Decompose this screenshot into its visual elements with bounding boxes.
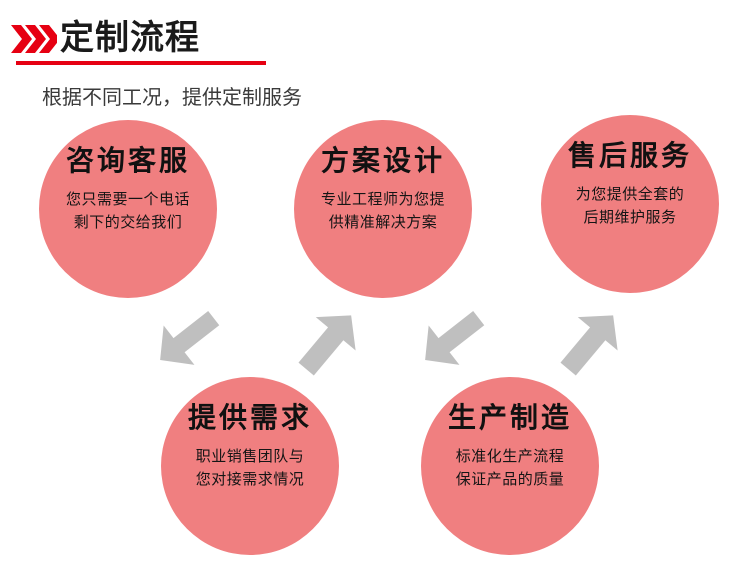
flow-stage-title: 咨询客服 <box>66 144 190 178</box>
page-subtitle: 根据不同工况，提供定制服务 <box>42 85 302 111</box>
flow-stage-consult: 咨询客服 您只需要一个电话 剩下的交给我们 <box>39 120 217 298</box>
arrow-down-right-icon-consult-to-requirement <box>150 303 230 383</box>
flow-stage-after-sales: 售后服务 为您提供全套的 后期维护服务 <box>541 115 719 293</box>
flow-stage-requirement: 提供需求 职业销售团队与 您对接需求情况 <box>161 377 339 555</box>
double-chevron-right-icon <box>11 24 57 54</box>
arrow-up-right-icon-requirement-to-design <box>288 303 368 383</box>
flow-stage-title: 方案设计 <box>321 144 445 178</box>
flow-stage-description: 标准化生产流程 保证产品的质量 <box>446 445 575 491</box>
flow-stage-description: 职业销售团队与 您对接需求情况 <box>186 445 315 491</box>
page-header: 定制流程 根据不同工况，提供定制服务 <box>0 0 750 72</box>
page-title: 定制流程 <box>60 16 200 60</box>
flow-stage-description: 为您提供全套的 后期维护服务 <box>566 183 695 229</box>
flow-stage-title: 售后服务 <box>568 139 692 173</box>
flow-stage-description: 专业工程师为您提 供精准解决方案 <box>311 188 455 234</box>
flow-stage-description: 您只需要一个电话 剩下的交给我们 <box>56 188 200 234</box>
arrow-up-right-icon-manufacture-to-after-sales <box>550 303 630 383</box>
flow-stage-title: 提供需求 <box>188 401 312 435</box>
flow-stage-title: 生产制造 <box>448 401 572 435</box>
flow-stage-design: 方案设计 专业工程师为您提 供精准解决方案 <box>294 120 472 298</box>
title-underline <box>16 61 266 65</box>
flow-stage-manufacture: 生产制造 标准化生产流程 保证产品的质量 <box>421 377 599 555</box>
arrow-down-right-icon-design-to-manufacture <box>415 303 495 383</box>
customization-process-infographic: 定制流程 根据不同工况，提供定制服务 <box>0 0 750 576</box>
